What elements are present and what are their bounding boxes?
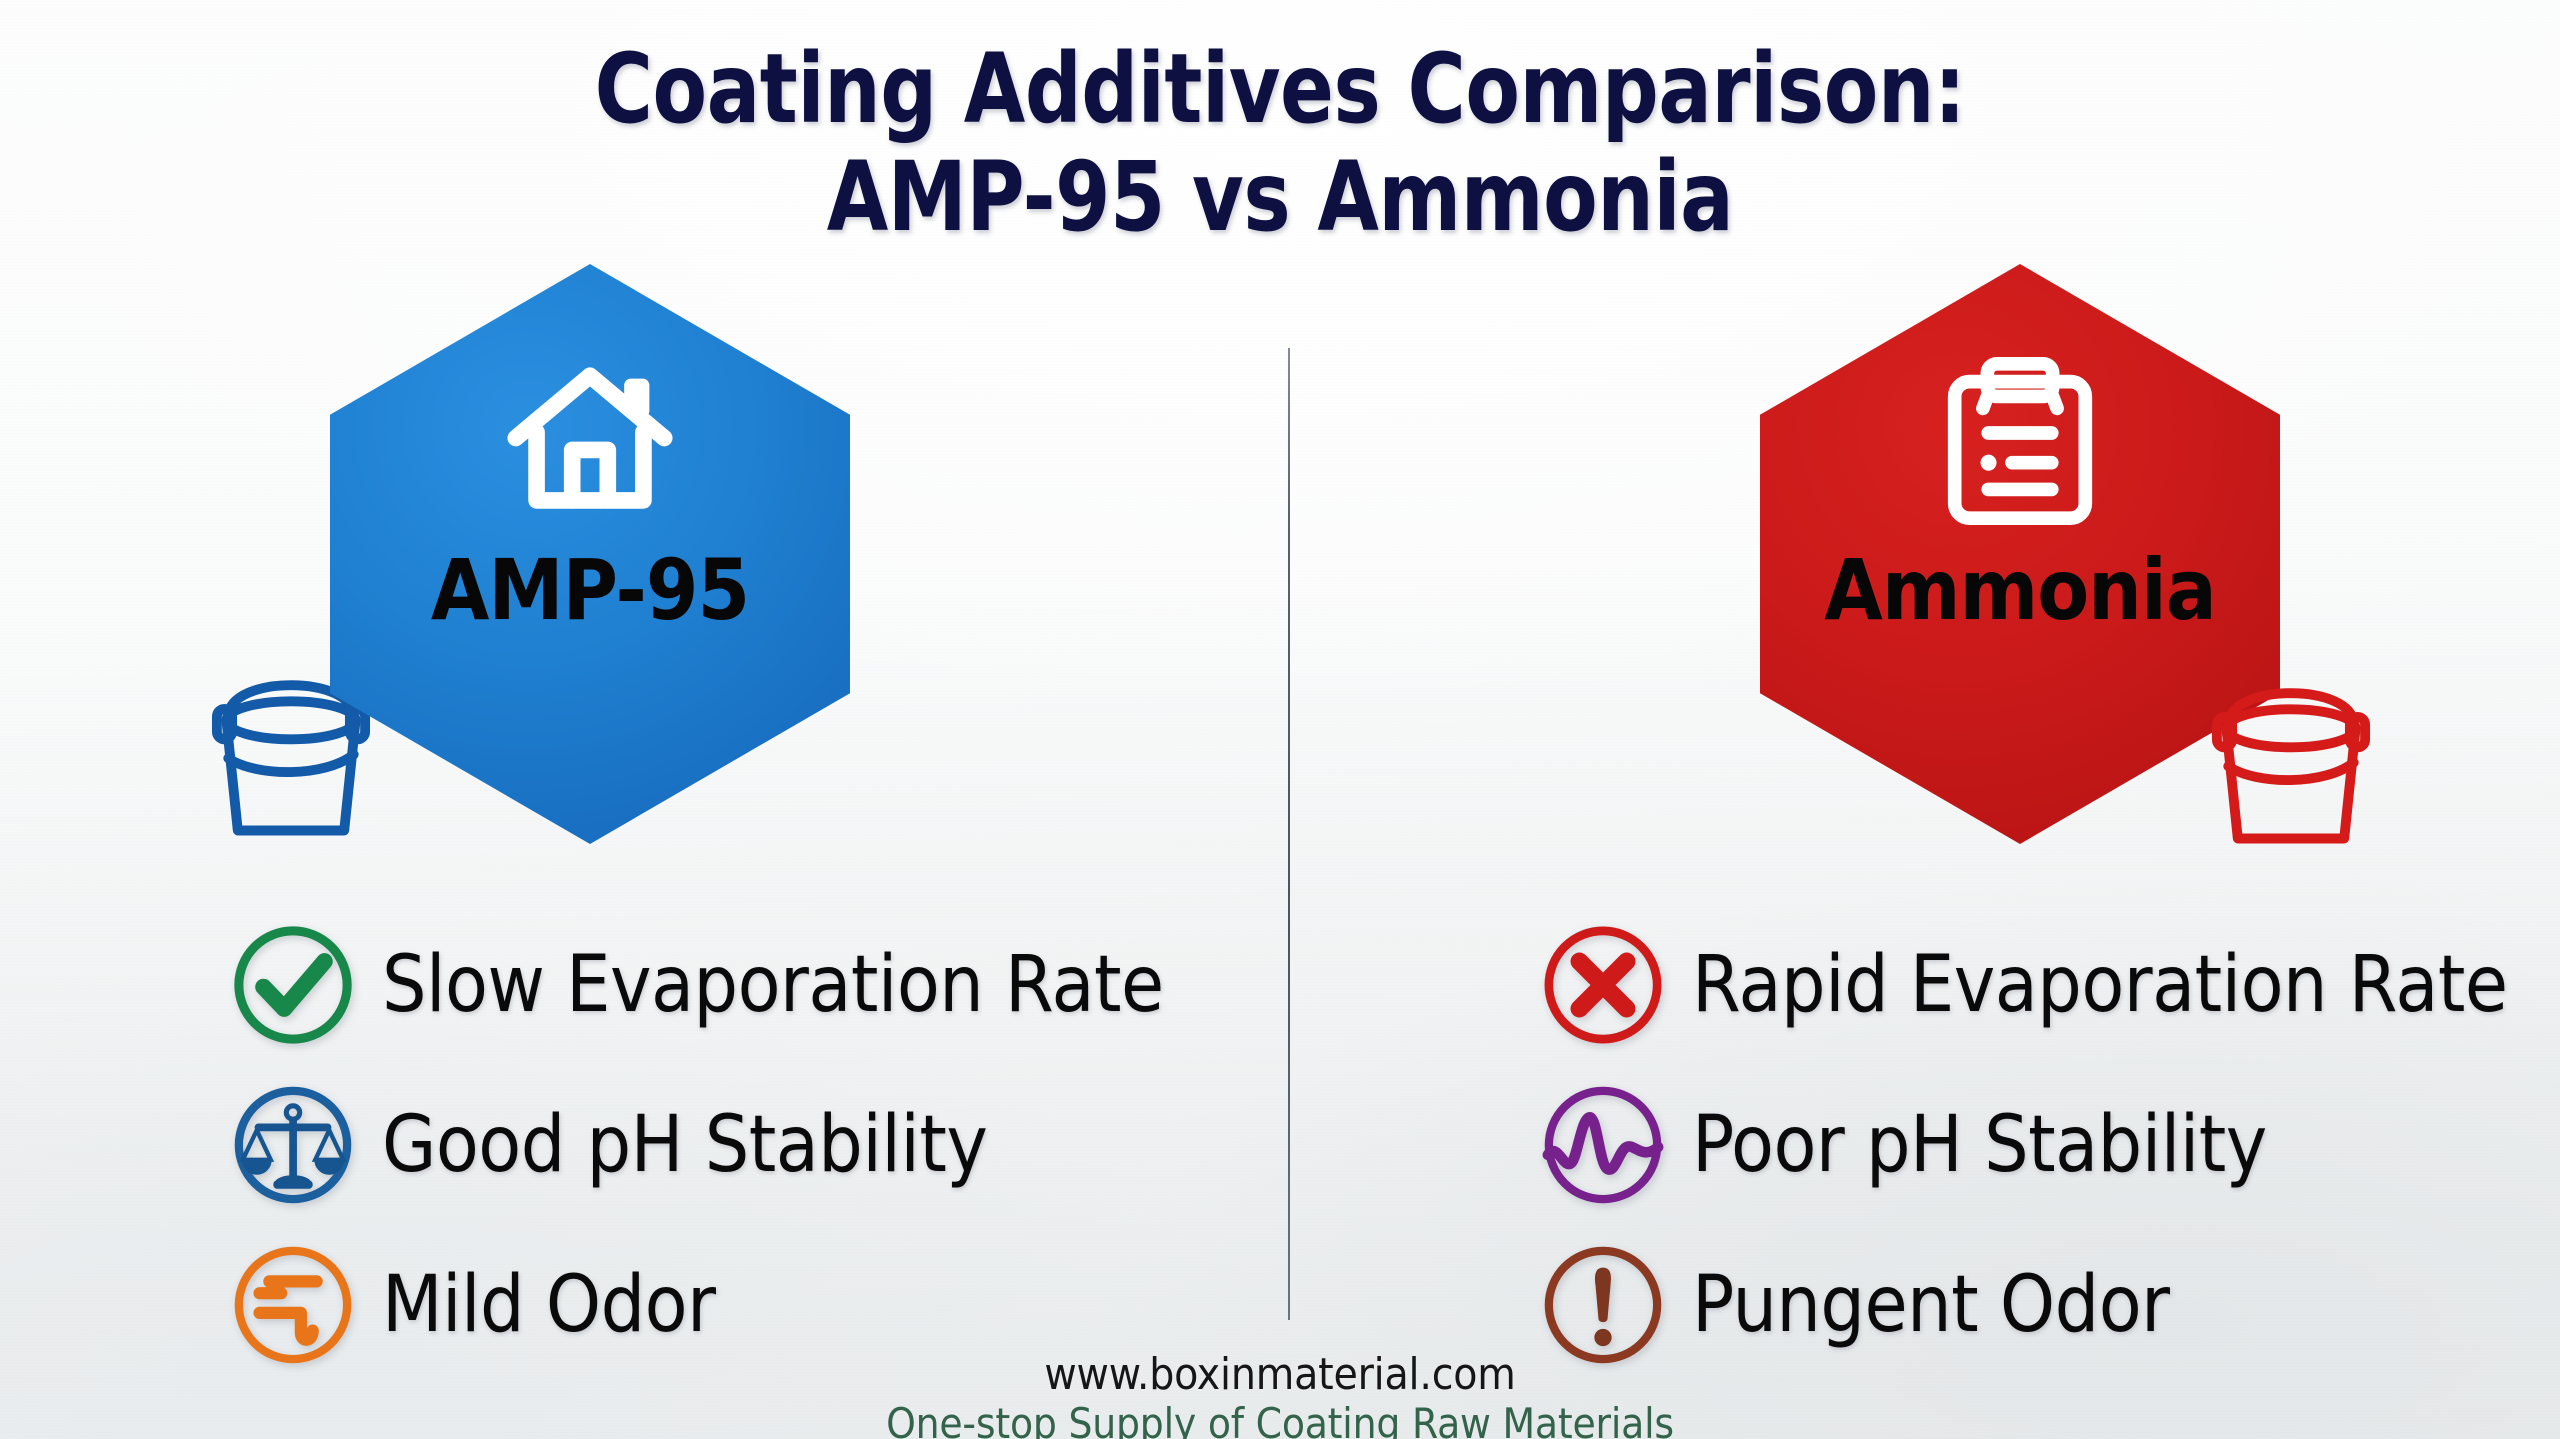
footer: www.boxinmaterial.com One-stop Supply of… [0, 1352, 2560, 1439]
feature-label: Mild Odor [382, 1266, 715, 1344]
feature-list-amp-95: Slow Evaporation Rate Good pH Stability [230, 905, 1410, 1385]
check-circle-icon [230, 922, 356, 1048]
exclamation-circle-icon [1540, 1242, 1666, 1368]
clipboard-icon [1925, 346, 2115, 536]
page-title: Coating Additives Comparison: AMP-95 vs … [102, 36, 2457, 251]
feature-item-slow-evaporation: Slow Evaporation Rate [230, 905, 1410, 1065]
feature-label: Pungent Odor [1692, 1266, 2169, 1344]
badge-label-amp-95: AMP-95 [431, 548, 749, 632]
feature-label: Rapid Evaporation Rate [1692, 946, 2508, 1024]
footer-tagline: One-stop Supply of Coating Raw Materials [0, 1402, 2560, 1439]
badge-label-ammonia: Ammonia [1824, 548, 2216, 632]
feature-item-poor-ph-stability: Poor pH Stability [1540, 1065, 2560, 1225]
x-circle-icon [1540, 922, 1666, 1048]
badge-amp-95[interactable]: AMP-95 [330, 264, 850, 844]
feature-label: Good pH Stability [382, 1106, 987, 1184]
footer-website-url[interactable]: www.boxinmaterial.com [0, 1352, 2560, 1398]
airflow-circle-icon [230, 1242, 356, 1368]
paint-bucket-icon-right [2196, 648, 2386, 858]
page-title-line-1: Coating Additives Comparison: [102, 36, 2457, 144]
scales-circle-icon [230, 1082, 356, 1208]
infographic-canvas: Coating Additives Comparison: AMP-95 vs … [0, 0, 2560, 1439]
page-title-line-2: AMP-95 vs Ammonia [102, 144, 2457, 252]
feature-item-rapid-evaporation: Rapid Evaporation Rate [1540, 905, 2560, 1065]
feature-label: Slow Evaporation Rate [382, 946, 1164, 1024]
feature-list-ammonia: Rapid Evaporation Rate Poor pH Stability… [1540, 905, 2560, 1385]
feature-label: Poor pH Stability [1692, 1106, 2267, 1184]
house-icon [495, 346, 685, 536]
waveform-circle-icon [1540, 1082, 1666, 1208]
feature-item-good-ph-stability: Good pH Stability [230, 1065, 1410, 1225]
